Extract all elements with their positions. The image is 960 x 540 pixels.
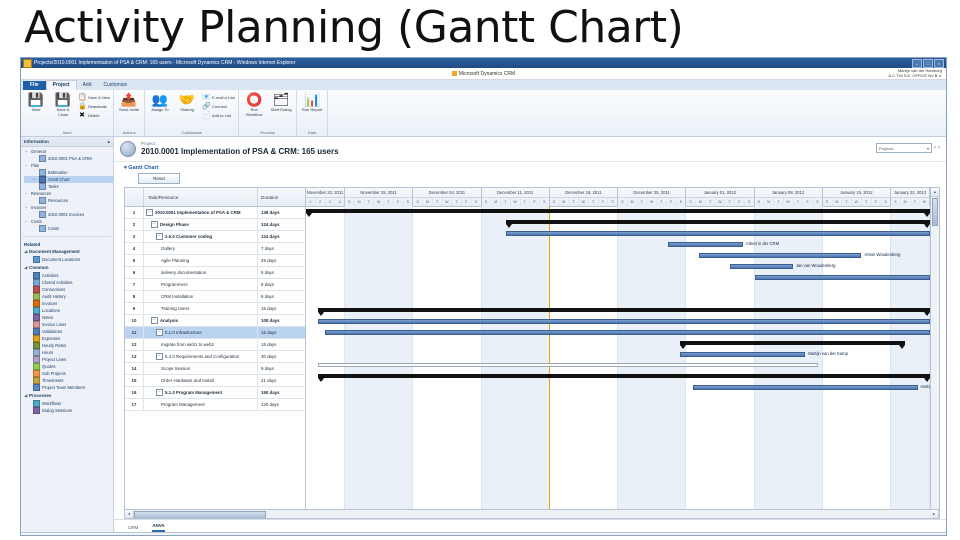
expand-collapse-icon[interactable]: − xyxy=(146,209,153,216)
gantt-toolbar: Reset xyxy=(114,173,946,187)
day-label: T xyxy=(501,198,511,206)
task-name-cell[interactable]: −Analysis xyxy=(144,315,258,326)
nav-item-icon xyxy=(33,400,40,407)
day-label: T xyxy=(638,198,648,206)
gantt-bar-label: Martijn van der Kamp xyxy=(808,351,848,357)
nav-item-notes[interactable]: Notes xyxy=(24,314,113,321)
gantt-vertical-scrollbar[interactable]: ▴ xyxy=(930,188,939,509)
gantt-task-bar[interactable] xyxy=(318,319,930,324)
row-number: 15 xyxy=(125,375,144,386)
table-row[interactable]: 13−5.4.0 Requirements and Configuration3… xyxy=(125,351,305,363)
task-name-cell[interactable]: Gallery xyxy=(144,243,258,254)
task-name-cell[interactable]: Programmers xyxy=(144,279,258,290)
gantt-summary-bar[interactable] xyxy=(318,374,930,378)
day-label: T xyxy=(862,198,872,206)
save-close-icon: 💾 xyxy=(55,92,71,107)
table-row[interactable]: 8CRM Installation6 days xyxy=(125,291,305,303)
sharing-icon: 🤝 xyxy=(179,92,195,107)
nav-item-2010-0001-psa-crm[interactable]: 2010.0001 PSA & CRM xyxy=(24,155,113,162)
deactivate-button[interactable]: 🔒 Deactivate xyxy=(78,103,110,111)
nav-item-project-team-members[interactable]: Project Team Members xyxy=(24,384,113,391)
nav-item-project-lines[interactable]: Project Lines xyxy=(24,356,113,363)
day-label: S xyxy=(540,198,549,206)
run-report-label: Run Report xyxy=(302,108,322,113)
row-number: 9 xyxy=(125,303,144,314)
save-and-close-button[interactable]: 💾 Save & Close xyxy=(51,92,75,117)
task-name-cell[interactable]: Training Users xyxy=(144,303,258,314)
nav-item-dialog-sessions[interactable]: Dialog Sessions xyxy=(24,407,113,414)
run-report-button[interactable]: 📊 Run Report xyxy=(300,92,324,113)
day-label: S xyxy=(472,198,481,206)
user-org: A.C.T.M S.E. OFFICE NV B.V. xyxy=(888,73,942,78)
week-label: December 11, 2011 xyxy=(482,188,549,198)
nav-item-icon xyxy=(39,211,46,218)
tab-crm[interactable]: CRM xyxy=(128,525,138,532)
timeline-week: December 18, 2011SMTWTFS xyxy=(550,188,618,206)
task-name-cell[interactable]: Scope Session xyxy=(144,363,258,374)
nav-item-label: Timesheets xyxy=(42,378,64,384)
day-label: T xyxy=(521,198,531,206)
ie-icon xyxy=(23,59,32,68)
nav-item-icon xyxy=(33,370,40,377)
day-label: S xyxy=(404,198,413,206)
today-marker xyxy=(549,206,550,509)
ribbon-tab-customize[interactable]: Customize xyxy=(97,81,133,90)
run-workflow-label: Run Workflow xyxy=(242,108,266,117)
day-label: T xyxy=(433,198,443,206)
day-label: T xyxy=(706,198,716,206)
vscroll-thumb[interactable] xyxy=(932,198,938,226)
week-label: November 29, 2011 xyxy=(345,188,412,198)
day-label: F xyxy=(667,198,677,206)
timeline-week: December 04, 2011SMTWTFS xyxy=(413,188,481,206)
nav-item-general[interactable]: −General xyxy=(24,148,113,155)
record-title: 2010.0001 Implementation of PSA & CRM: 1… xyxy=(141,147,339,157)
task-name: 5.1.0 Program Management xyxy=(165,390,222,395)
col-header-name[interactable]: Task/Resource xyxy=(144,188,258,206)
twisty-icon[interactable]: − xyxy=(25,149,29,154)
nav-item-plan[interactable]: −Plan xyxy=(24,162,113,169)
nav-item-expenses[interactable]: Expenses xyxy=(24,335,113,342)
nav-item-label: Tasks xyxy=(48,184,59,190)
minimize-button[interactable]: – xyxy=(912,59,922,68)
day-label: S xyxy=(686,198,696,206)
start-dialog-button[interactable]: 🗂 Start Dialog xyxy=(269,92,293,113)
scroll-left-icon[interactable]: ◂ xyxy=(125,510,134,518)
task-name-cell[interactable]: −5.4.0 Requirements and Configuration xyxy=(144,351,258,362)
nav-item-2010-0001-invoices[interactable]: 2010.0001 Invoices xyxy=(24,211,113,218)
week-label: January 22, 2012 xyxy=(891,188,929,198)
scroll-right-icon[interactable]: ▸ xyxy=(930,510,939,518)
day-label: F xyxy=(462,198,472,206)
day-label: M xyxy=(696,198,706,206)
gantt-top: Task/Resource Duration 1−2010.0001 Imple… xyxy=(125,188,939,509)
nav-item-workflows[interactable]: Workflows xyxy=(24,400,113,407)
ribbon-group-label-collaborate: Collaborate xyxy=(148,130,235,136)
nav-item-costs[interactable]: −Costs xyxy=(24,218,113,225)
row-number: 5 xyxy=(125,255,144,266)
email-link-button[interactable]: 📧 E-mail a Link xyxy=(202,94,235,102)
ribbon-tab-file[interactable]: File xyxy=(23,81,46,90)
gantt-table-header: Task/Resource Duration xyxy=(125,188,305,207)
nav-item-closed-activities[interactable]: Closed Activities xyxy=(24,279,113,286)
connect-label: Connect xyxy=(212,103,227,111)
sharing-button[interactable]: 🤝 Sharing xyxy=(175,92,199,113)
table-row[interactable]: 11−5.1.0 Infrastructure15 days xyxy=(125,327,305,339)
table-row[interactable]: 4Gallery7 days xyxy=(125,243,305,255)
nav-group-title[interactable]: ⊿ Common xyxy=(24,265,113,271)
task-name-cell[interactable]: −5.1.0 Program Management xyxy=(144,387,258,398)
zoom-level[interactable]: 100%▾ xyxy=(922,535,942,536)
gantt-task-bar[interactable] xyxy=(668,242,743,247)
task-name: Scope Session xyxy=(161,366,190,371)
gantt-rows: 1−2010.0001 Implementation of PSA & CRM1… xyxy=(125,207,305,411)
chevron-right-icon[interactable]: › xyxy=(938,145,940,151)
day-label: M xyxy=(764,198,774,206)
table-row[interactable]: 6delivery documentation5 days xyxy=(125,267,305,279)
day-label: T xyxy=(384,198,394,206)
nav-item-icon xyxy=(33,342,40,349)
gantt-task-bar[interactable] xyxy=(680,352,805,357)
nav-item-label: 2010.0001 Invoices xyxy=(48,212,84,218)
timeline-band xyxy=(306,206,345,509)
task-duration: 120 days xyxy=(258,399,305,410)
week-label: January 08, 2012 xyxy=(755,188,822,198)
record-labels: Project 2010.0001 Implementation of PSA … xyxy=(141,141,339,157)
task-name-cell[interactable]: Program Management xyxy=(144,399,258,410)
task-duration: 8 days xyxy=(258,279,305,290)
timeline-band xyxy=(482,206,550,509)
user-info[interactable]: Martijn van der Hamburg A.C.T.M S.E. OFF… xyxy=(888,68,942,78)
nav-item-icon xyxy=(33,300,40,307)
gantt-summary-bar[interactable] xyxy=(506,220,930,224)
task-name-cell[interactable]: migrate from web1 to web2 xyxy=(144,339,258,350)
nav-item-quotes[interactable]: Quotes xyxy=(24,363,113,370)
task-name: CRM Installation xyxy=(161,294,193,299)
day-label: S xyxy=(608,198,617,206)
crm-product: Microsoft Dynamics CRM xyxy=(452,71,515,77)
chevron-left-icon[interactable]: ‹ xyxy=(934,145,936,151)
nav-item-tasks[interactable]: Tasks xyxy=(24,183,113,190)
sharing-label: Sharing xyxy=(180,108,194,113)
task-name: Analysis xyxy=(160,318,178,323)
day-label: T xyxy=(725,198,735,206)
gantt-task-bar[interactable] xyxy=(730,264,792,269)
task-name-cell[interactable]: −Design Phase xyxy=(144,219,258,230)
nav-item-icon xyxy=(33,335,40,342)
gantt-task-bar[interactable] xyxy=(699,253,861,258)
nav-item-icon xyxy=(33,256,40,263)
nav-item-label: Resources xyxy=(31,191,51,197)
nav-item-label: Project Team Members xyxy=(42,385,85,391)
row-number: 12 xyxy=(125,339,144,350)
gantt-summary-bar[interactable] xyxy=(680,341,905,345)
day-label: F xyxy=(872,198,882,206)
nav-item-icon xyxy=(39,225,46,232)
nav-item-invoices[interactable]: Invoices xyxy=(24,300,113,307)
task-name-cell[interactable]: −5.1.0 Infrastructure xyxy=(144,327,258,338)
ribbon: File Project Add Customize 💾 Save 💾 Save… xyxy=(21,80,946,137)
timeline-week: November 22, 20111234 xyxy=(306,188,345,206)
table-row[interactable]: 2−Design Phase124 days xyxy=(125,219,305,231)
nav-item-label: Document Locations xyxy=(42,257,80,263)
week-label: December 04, 2011 xyxy=(413,188,480,198)
table-row[interactable]: 15Order Hardware and Install21 days xyxy=(125,375,305,387)
gantt-chart: Task/Resource Duration 1−2010.0001 Imple… xyxy=(124,187,940,519)
week-label: January 15, 2012 xyxy=(823,188,890,198)
delete-button[interactable]: ✖ Delete xyxy=(78,112,110,120)
nav-item-icon xyxy=(39,183,46,190)
gantt-task-bar[interactable] xyxy=(325,330,930,335)
day-label: M xyxy=(355,198,365,206)
ribbon-tab-project[interactable]: Project xyxy=(46,80,77,90)
timeline-band xyxy=(618,206,686,509)
twisty-icon[interactable]: − xyxy=(25,163,29,168)
expand-collapse-icon[interactable]: − xyxy=(156,389,163,396)
day-label: W xyxy=(374,198,384,206)
table-row[interactable]: 1−2010.0001 Implementation of PSA & CRM1… xyxy=(125,207,305,219)
nav-item-invoice-lines[interactable]: Invoice Lines xyxy=(24,321,113,328)
dynamics-logo-icon xyxy=(452,71,457,76)
expand-collapse-icon[interactable]: − xyxy=(156,353,163,360)
timeline-band xyxy=(550,206,618,509)
hscroll-thumb[interactable] xyxy=(134,511,266,519)
day-label: S xyxy=(618,198,628,206)
save-close-button-label: Save & Close xyxy=(51,108,75,117)
task-duration: 124 days xyxy=(258,219,305,230)
nav-header: Information ▴ xyxy=(21,137,113,147)
twisty-icon[interactable]: − xyxy=(25,219,29,224)
email-link-icon: 📧 xyxy=(202,94,210,102)
nav-item-hourly-rates[interactable]: Hourly Rates xyxy=(24,342,113,349)
nav-item-document-locations[interactable]: Document Locations xyxy=(24,256,113,263)
task-duration: 15 days xyxy=(258,339,305,350)
hscroll-track[interactable] xyxy=(134,510,930,518)
day-label: F xyxy=(530,198,540,206)
nav-item-label: Expenses xyxy=(42,336,60,342)
expand-collapse-icon[interactable]: − xyxy=(156,329,163,336)
gantt-section-header[interactable]: ▾ Gantt Chart xyxy=(114,162,946,173)
table-row[interactable]: 16−5.1.0 Program Management150 days xyxy=(125,387,305,399)
browser-window: Projects/2010.0001 Implementation of PSA… xyxy=(20,57,947,536)
day-label: F xyxy=(803,198,813,206)
nav-item-icon xyxy=(33,293,40,300)
dialog-icon: 🗂 xyxy=(273,92,290,107)
task-name: Training Users xyxy=(161,306,189,311)
nav-item-icon xyxy=(33,356,40,363)
day-label: S xyxy=(881,198,890,206)
nav-item-connections[interactable]: Connections xyxy=(24,286,113,293)
connect-button[interactable]: 🔗 Connect xyxy=(202,103,235,111)
task-name-cell[interactable]: delivery documentation xyxy=(144,267,258,278)
nav-item-gantt-chart[interactable]: −Gantt Chart xyxy=(24,176,113,183)
timeline-week: December 11, 2011SMTWTFS xyxy=(482,188,550,206)
nav-item-resources[interactable]: −Resources xyxy=(24,190,113,197)
task-name: Order Hardware and Install xyxy=(161,378,214,383)
twisty-icon[interactable]: − xyxy=(25,191,29,196)
assign-icon: 👥 xyxy=(152,92,168,107)
day-label: M xyxy=(833,198,843,206)
reset-button[interactable]: Reset xyxy=(138,173,180,184)
maximize-button[interactable]: □ xyxy=(923,59,933,68)
send-invite-icon: 📤 xyxy=(121,92,137,107)
table-row[interactable]: 17Program Management120 days xyxy=(125,399,305,411)
task-duration: 21 days xyxy=(258,375,305,386)
start-dialog-label: Start Dialog xyxy=(271,108,292,113)
task-name-cell[interactable]: −2.5.0 Customer coding xyxy=(144,231,258,242)
gantt-timeline: November 22, 20111234November 29, 2011SM… xyxy=(306,188,930,509)
workspace: Information ▴ −General2010.0001 PSA & CR… xyxy=(21,137,946,532)
nav-item-icon xyxy=(39,169,46,176)
ribbon-group-label-process: Process xyxy=(242,130,293,136)
day-label: F xyxy=(599,198,609,206)
row-number: 11 xyxy=(125,327,144,338)
workflow-icon: ⭕ xyxy=(246,92,262,107)
record-header: Project 2010.0001 Implementation of PSA … xyxy=(114,137,946,162)
row-number: 14 xyxy=(125,363,144,374)
nav-item-icon xyxy=(33,384,40,391)
nav-item-label: Workflows xyxy=(42,401,61,407)
status-bar: Done Local intranet | Protected Mode: Of… xyxy=(21,532,946,536)
gantt-task-bar[interactable] xyxy=(755,275,930,280)
tab-anva[interactable]: ANVA xyxy=(152,523,164,532)
nav-item-label: Hours xyxy=(42,350,53,356)
chevron-down-icon: ▾ xyxy=(124,165,127,171)
task-name-cell[interactable]: −2010.0001 Implementation of PSA & CRM xyxy=(144,207,258,218)
week-label: January 01, 2012 xyxy=(686,188,753,198)
window-controls[interactable]: – □ × xyxy=(912,59,944,68)
nav-item-label: Locations xyxy=(42,308,60,314)
day-label: T xyxy=(911,198,921,206)
task-name-cell[interactable]: Agile Planning xyxy=(144,255,258,266)
chevron-up-icon[interactable]: ▴ xyxy=(107,139,110,145)
gantt-progress-bar[interactable] xyxy=(318,363,817,367)
nav-item-label: Connections xyxy=(42,287,65,293)
nav-item-icon xyxy=(33,407,40,414)
save-button-label: Save xyxy=(31,108,40,113)
nav-item-timesheets[interactable]: Timesheets xyxy=(24,377,113,384)
view-selector[interactable]: Projects ▾ xyxy=(876,143,932,153)
nav-item-label: Dialog Sessions xyxy=(42,408,72,414)
ribbon-tab-add[interactable]: Add xyxy=(77,81,98,90)
day-label: M xyxy=(901,198,911,206)
nav-item-activities[interactable]: Activities xyxy=(24,272,113,279)
task-name: 2010.0001 Implementation of PSA & CRM xyxy=(155,210,240,215)
table-row[interactable]: 7Programmers8 days xyxy=(125,279,305,291)
nav-item-icon xyxy=(33,279,40,286)
gantt-summary-bar[interactable] xyxy=(306,209,930,213)
day-label: S xyxy=(413,198,423,206)
assign-button[interactable]: 👥 Assign To xyxy=(148,92,172,113)
task-name-cell[interactable]: CRM Installation xyxy=(144,291,258,302)
ribbon-group-actions: 📤 Send Invite Actions xyxy=(114,90,145,136)
expand-collapse-icon[interactable]: − xyxy=(151,317,158,324)
gantt-bar-label: Arbeit in der CRM xyxy=(746,241,779,247)
close-button[interactable]: × xyxy=(934,59,944,68)
add-list-icon: 📄 xyxy=(202,112,210,120)
day-label: S xyxy=(813,198,822,206)
run-workflow-button[interactable]: ⭕ Run Workflow xyxy=(242,92,266,117)
nav-item-hours[interactable]: Hours xyxy=(24,349,113,356)
nav-item-icon xyxy=(39,197,46,204)
task-name: Design Phase xyxy=(160,222,189,227)
nav-item-sub-projects[interactable]: Sub Projects xyxy=(24,370,113,377)
nav-item-invoices[interactable]: −Invoices xyxy=(24,204,113,211)
timeline-band xyxy=(686,206,754,509)
save-button[interactable]: 💾 Save xyxy=(24,92,48,113)
nav-item-label: 2010.0001 PSA & CRM xyxy=(48,156,92,162)
expand-collapse-icon[interactable]: − xyxy=(151,221,158,228)
gantt-section-title: Gantt Chart xyxy=(128,165,158,171)
task-duration: 29 days xyxy=(258,255,305,266)
nav-item-audit-history[interactable]: Audit History xyxy=(24,293,113,300)
gantt-bars-area[interactable]: Arbeit in der CRMAnton WoudenbergJan van… xyxy=(306,206,930,509)
save-and-new-button[interactable]: 📋 Save & New xyxy=(78,94,110,102)
timeline-week: November 29, 2011SMTWTFS xyxy=(345,188,413,206)
task-name-cell[interactable]: Order Hardware and Install xyxy=(144,375,258,386)
day-label: M xyxy=(423,198,433,206)
table-row[interactable]: 14Scope Session9 days xyxy=(125,363,305,375)
day-label: T xyxy=(365,198,375,206)
nav-item-label: Project Lines xyxy=(42,357,66,363)
timeline-week: January 15, 2012SMTWTFS xyxy=(823,188,891,206)
project-icon xyxy=(120,141,136,157)
nav-item-estimation[interactable]: Estimation xyxy=(24,169,113,176)
view-selector-label: Projects xyxy=(879,146,893,151)
gantt-summary-bar[interactable] xyxy=(318,308,930,312)
task-duration: 9 days xyxy=(258,363,305,374)
day-label: T xyxy=(794,198,804,206)
task-duration: 150 days xyxy=(258,387,305,398)
scroll-up-icon[interactable]: ▴ xyxy=(931,188,939,197)
table-row[interactable]: 3−2.5.0 Customer coding124 days xyxy=(125,231,305,243)
twisty-icon[interactable]: − xyxy=(25,205,29,210)
task-duration: 30 days xyxy=(258,351,305,362)
nav-group-title[interactable]: ⊿ Document Management xyxy=(24,249,113,255)
day-label: T xyxy=(842,198,852,206)
ribbon-group-label-save: Save xyxy=(24,130,110,136)
status-right: Local intranet | Protected Mode: Off 100… xyxy=(843,535,942,536)
nav-item-locations[interactable]: Locations xyxy=(24,307,113,314)
nav-item-costs[interactable]: Costs xyxy=(24,225,113,232)
timeline-week: December 25, 2011SMTWTFS xyxy=(618,188,686,206)
table-row[interactable]: 9Training Users15 days xyxy=(125,303,305,315)
table-row[interactable]: 10−Analysis100 days xyxy=(125,315,305,327)
table-row[interactable]: 5Agile Planning29 days xyxy=(125,255,305,267)
nav-group-title[interactable]: ⊿ Processes xyxy=(24,393,113,399)
send-invite-button[interactable]: 📤 Send Invite xyxy=(117,92,141,113)
col-header-duration[interactable]: Duration xyxy=(258,188,305,206)
nav-item-label: Plan xyxy=(31,163,39,169)
nav-item-resources[interactable]: Resources xyxy=(24,197,113,204)
twisty-icon[interactable]: − xyxy=(33,177,37,182)
day-label: S xyxy=(823,198,833,206)
table-row[interactable]: 12migrate from web1 to web215 days xyxy=(125,339,305,351)
day-label: 3 xyxy=(326,198,336,206)
day-label: T xyxy=(589,198,599,206)
nav-item-label: Invoice Lines xyxy=(42,322,66,328)
add-to-list-button[interactable]: 📄 Add to List xyxy=(202,112,235,120)
gantt-task-bar[interactable] xyxy=(506,231,930,236)
gantt-horizontal-scrollbar[interactable]: ◂ ▸ xyxy=(125,509,939,518)
deactivate-label: Deactivate xyxy=(88,103,107,111)
expand-collapse-icon[interactable]: − xyxy=(156,233,163,240)
task-duration: 15 days xyxy=(258,303,305,314)
nav-item-icon xyxy=(39,155,46,162)
timeline-week: January 01, 2012SMTWTFS xyxy=(686,188,754,206)
nav-item-validations[interactable]: Validations xyxy=(24,328,113,335)
gantt-task-bar[interactable] xyxy=(693,385,918,390)
